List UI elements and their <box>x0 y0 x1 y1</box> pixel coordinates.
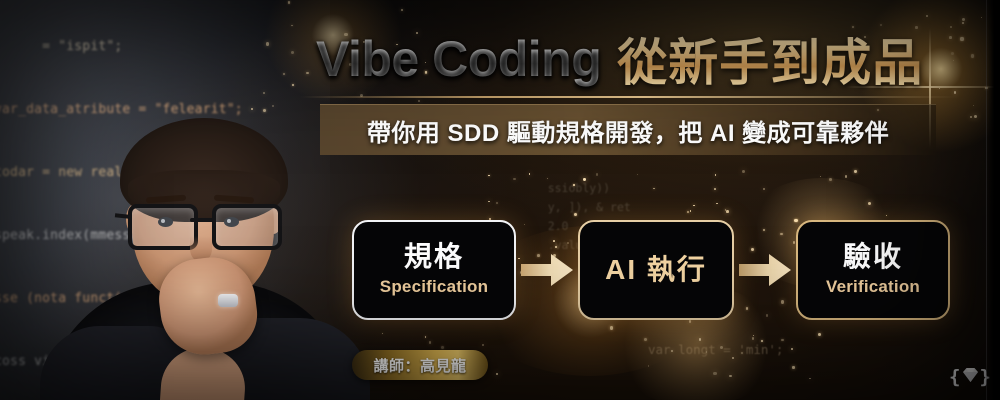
gem-icon <box>962 366 979 388</box>
sparkle-dot <box>845 175 847 177</box>
title-underline <box>300 96 960 98</box>
sparkle-dot <box>971 54 974 57</box>
code-line: var longt = 'min'; <box>648 340 988 360</box>
glasses-lens-right <box>212 204 282 250</box>
process-pipeline: 規格 Specification AI 執行 驗收 Ve <box>352 222 952 318</box>
glasses-bridge <box>190 218 216 222</box>
sparkle-dot <box>820 176 821 177</box>
sparkle-dot <box>610 326 613 329</box>
subtitle-text: 帶你用 SDD 驅動規格開發，把 AI 變成可靠夥伴 <box>367 113 889 148</box>
sparkle-dot <box>868 202 871 205</box>
arrow-right-icon <box>516 222 578 318</box>
sparkle-dot <box>644 338 647 341</box>
step-label-zh: AI 執行 <box>605 255 707 286</box>
step-label-zh: 規格 <box>404 242 464 273</box>
sparkle-dot <box>496 202 498 204</box>
subtitle-bar: 帶你用 SDD 驅動規格開發，把 AI 變成可靠夥伴 <box>320 104 936 155</box>
sparkle-dot <box>962 18 965 21</box>
sparkle-dot <box>401 9 404 12</box>
sparkle-dot <box>974 115 977 118</box>
sparkle-dot <box>926 15 928 17</box>
instructor-photo <box>62 112 334 400</box>
title-english: Vibe Coding <box>316 30 601 88</box>
ring <box>218 294 238 307</box>
code-line: = "ispit"; <box>0 36 354 57</box>
title-chinese: 從新手到成品 <box>617 23 923 95</box>
code-line: y, ]), & ret <box>548 200 631 214</box>
sparkle-dot <box>981 17 982 18</box>
sparkle-dot <box>418 100 419 101</box>
sparkle-dot <box>970 116 972 118</box>
sparkle-dot <box>954 91 956 93</box>
sparkle-dot <box>382 333 383 334</box>
right-edge-line <box>986 0 987 400</box>
course-banner: = "ispit"; var_data_atribute = "felearit… <box>0 0 1000 400</box>
sparkle-dot <box>425 336 427 338</box>
page-title: Vibe Coding 從新手到成品 <box>316 28 952 90</box>
sparkle-dot <box>482 344 484 346</box>
sparkle-dot <box>441 346 444 349</box>
sparkle-dot <box>854 170 856 172</box>
sparkle-dot <box>829 178 832 181</box>
sparkle-dot <box>429 341 431 343</box>
sparkle-dot <box>962 22 963 23</box>
sparkle-dot <box>953 60 954 61</box>
sparkle-dot <box>973 105 974 106</box>
sparkle-dot <box>488 175 489 176</box>
code-line: ssiobly)) <box>548 181 610 195</box>
sparkle-dot <box>513 178 515 180</box>
pipeline-step-ai-execution[interactable]: AI 執行 <box>578 220 734 320</box>
right-edge-shade <box>986 0 1000 400</box>
sparkle-dot <box>496 373 498 375</box>
pipeline-step-specification[interactable]: 規格 Specification <box>352 220 516 320</box>
step-label-en: Specification <box>380 276 488 298</box>
arrow-right-icon <box>734 222 796 318</box>
sparkle-dot <box>886 215 888 217</box>
step-label-en: Verification <box>826 276 920 298</box>
sparkle-dot <box>960 37 963 40</box>
instructor-badge-label: 講師：高見龍 <box>373 355 466 376</box>
glasses-lens-left <box>128 204 198 250</box>
logo-left-brace: { <box>949 366 960 388</box>
sparkle-dot <box>488 201 490 203</box>
glasses-temple <box>115 213 129 218</box>
pipeline-step-verification[interactable]: 驗收 Verification <box>796 220 950 320</box>
step-label-zh: 驗收 <box>843 242 903 273</box>
instructor-badge: 講師：高見龍 <box>352 350 488 380</box>
